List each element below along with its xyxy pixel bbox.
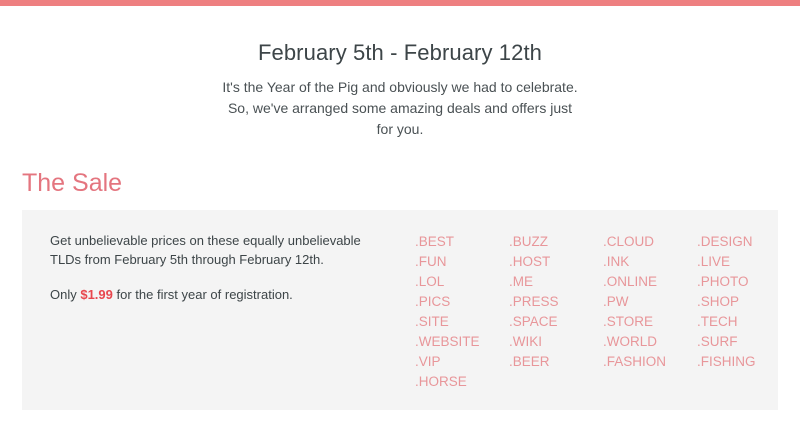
tld-item[interactable]: .WEBSITE (415, 332, 509, 352)
tld-item[interactable]: .SHOP (697, 292, 791, 312)
tld-column-1: .BEST .FUN .LOL .PICS .SITE .WEBSITE .VI… (415, 232, 509, 392)
tld-item[interactable]: .HOST (509, 252, 603, 272)
tld-list: .BEST .FUN .LOL .PICS .SITE .WEBSITE .VI… (415, 232, 791, 392)
page-title: February 5th - February 12th (0, 6, 800, 68)
tld-item[interactable]: .WIKI (509, 332, 603, 352)
sale-price-line: Only $1.99 for the first year of registr… (50, 285, 390, 304)
tld-column-3: .CLOUD .INK .ONLINE .PW .STORE .WORLD .F… (603, 232, 697, 392)
sale-description-line-1: Get unbelievable prices on these equally… (50, 231, 390, 269)
price-suffix: for the first year of registration. (113, 287, 293, 302)
tld-item[interactable]: .STORE (603, 312, 697, 332)
tld-item[interactable]: .VIP (415, 352, 509, 372)
tld-item[interactable]: .FISHING (697, 352, 791, 372)
tld-item[interactable]: .SPACE (509, 312, 603, 332)
sale-panel: Get unbelievable prices on these equally… (22, 210, 778, 410)
tld-item[interactable]: .CLOUD (603, 232, 697, 252)
price-value: $1.99 (80, 287, 113, 302)
tld-item[interactable]: .BUZZ (509, 232, 603, 252)
tld-item[interactable]: .PW (603, 292, 697, 312)
tld-item[interactable]: .SURF (697, 332, 791, 352)
tld-item[interactable]: .HORSE (415, 372, 509, 392)
tld-item[interactable]: .BEST (415, 232, 509, 252)
tld-column-4: .DESIGN .LIVE .PHOTO .SHOP .TECH .SURF .… (697, 232, 791, 392)
tld-column-2: .BUZZ .HOST .ME .PRESS .SPACE .WIKI .BEE… (509, 232, 603, 392)
tld-item[interactable]: .WORLD (603, 332, 697, 352)
tld-item[interactable]: .TECH (697, 312, 791, 332)
section-heading-the-sale: The Sale (22, 168, 122, 198)
tld-item[interactable]: .ME (509, 272, 603, 292)
hero-header: February 5th - February 12th It's the Ye… (0, 6, 800, 140)
tld-item[interactable]: .PRESS (509, 292, 603, 312)
tld-item[interactable]: .LOL (415, 272, 509, 292)
tld-item[interactable]: .ONLINE (603, 272, 697, 292)
tld-item[interactable]: .FUN (415, 252, 509, 272)
tld-item[interactable]: .INK (603, 252, 697, 272)
price-prefix: Only (50, 287, 80, 302)
tld-item[interactable]: .BEER (509, 352, 603, 372)
page-subtitle: It's the Year of the Pig and obviously w… (220, 68, 580, 140)
sale-description: Get unbelievable prices on these equally… (50, 231, 390, 304)
tld-item[interactable]: .PHOTO (697, 272, 791, 292)
tld-item[interactable]: .SITE (415, 312, 509, 332)
tld-item[interactable]: .DESIGN (697, 232, 791, 252)
tld-item[interactable]: .FASHION (603, 352, 697, 372)
tld-item[interactable]: .PICS (415, 292, 509, 312)
tld-item[interactable]: .LIVE (697, 252, 791, 272)
